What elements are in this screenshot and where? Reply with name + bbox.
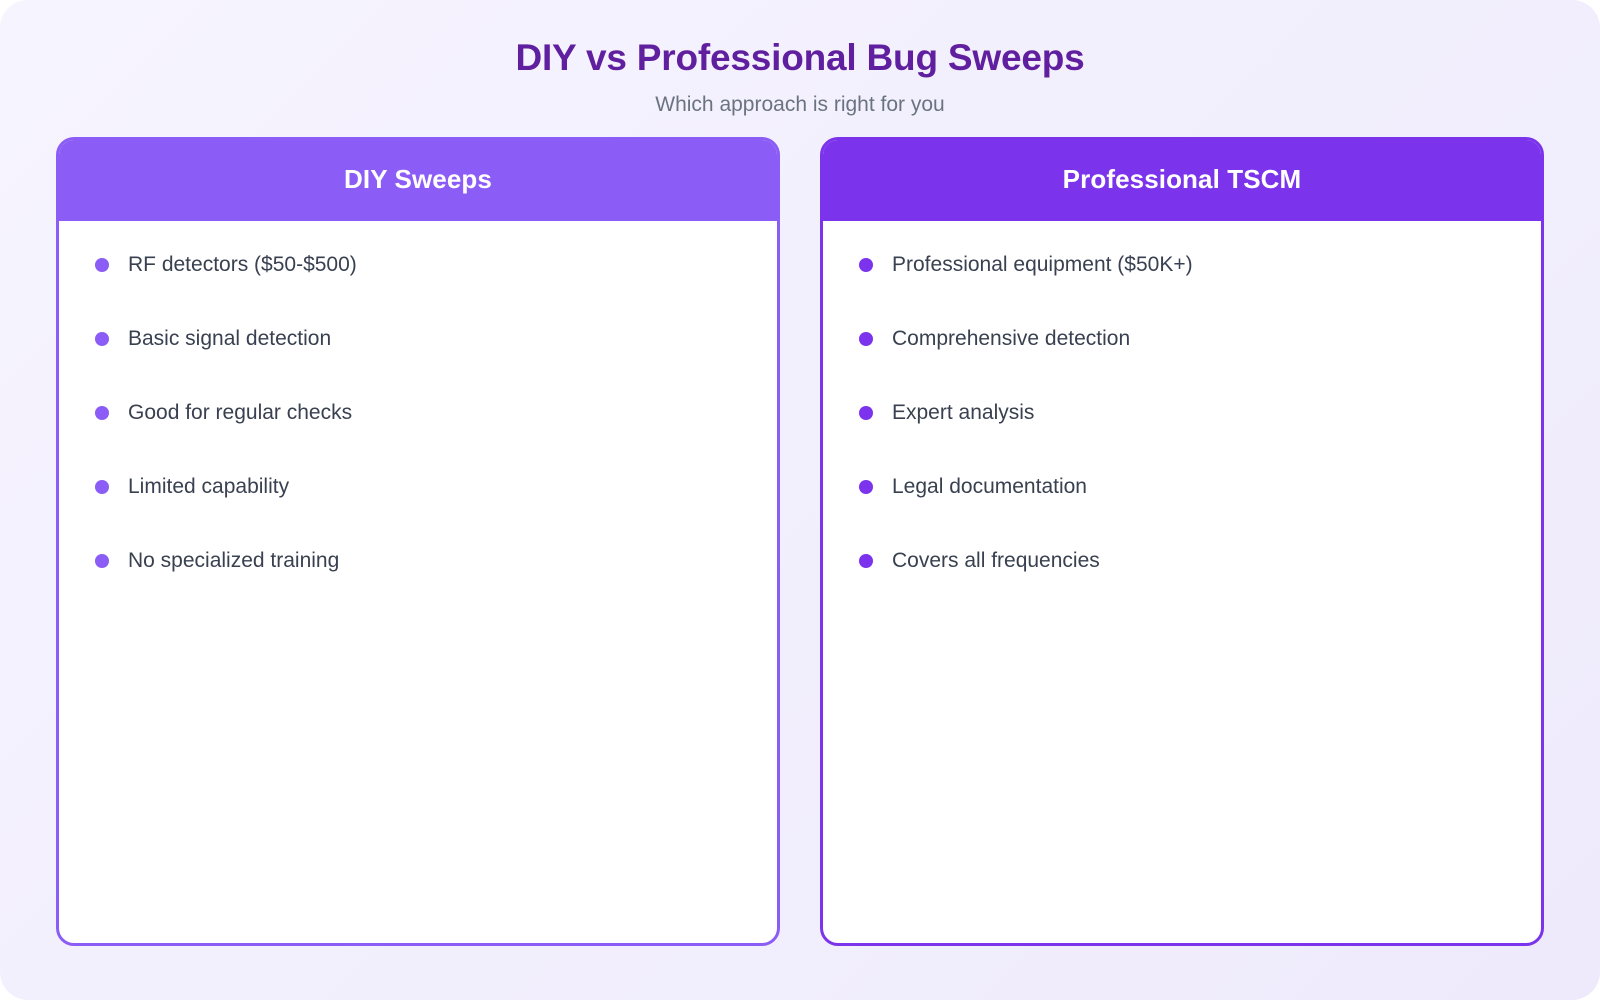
page-header: DIY vs Professional Bug Sweeps Which app…	[0, 0, 1600, 117]
list-item-label: RF detectors ($50-$500)	[128, 252, 357, 278]
bullet-dot-icon	[95, 258, 109, 272]
card-header-diy: DIY Sweeps	[58, 139, 778, 221]
card-header-title-professional: Professional TSCM	[1063, 164, 1302, 195]
list-item-label: Covers all frequencies	[892, 548, 1100, 574]
list-item: RF detectors ($50-$500)	[95, 251, 743, 279]
list-item: Professional equipment ($50K+)	[859, 251, 1507, 279]
bullet-dot-icon	[95, 332, 109, 346]
list-item: Good for regular checks	[95, 399, 743, 427]
list-item-label: Basic signal detection	[128, 326, 331, 352]
comparison-card-diy: DIY Sweeps RF detectors ($50-$500) Basic…	[56, 137, 780, 946]
list-item: Comprehensive detection	[859, 325, 1507, 353]
list-item-label: Comprehensive detection	[892, 326, 1130, 352]
comparison-columns: DIY Sweeps RF detectors ($50-$500) Basic…	[0, 117, 1600, 1000]
list-item: Limited capability	[95, 473, 743, 501]
list-item: Expert analysis	[859, 399, 1507, 427]
list-item-label: Good for regular checks	[128, 400, 352, 426]
feature-list-diy: RF detectors ($50-$500) Basic signal det…	[95, 251, 743, 575]
comparison-card-professional: Professional TSCM Professional equipment…	[820, 137, 1544, 946]
page-title: DIY vs Professional Bug Sweeps	[0, 36, 1600, 80]
card-header-title-diy: DIY Sweeps	[344, 164, 492, 195]
page-subtitle: Which approach is right for you	[0, 92, 1600, 117]
bullet-dot-icon	[95, 406, 109, 420]
bullet-dot-icon	[95, 480, 109, 494]
bullet-dot-icon	[859, 332, 873, 346]
comparison-infographic: DIY vs Professional Bug Sweeps Which app…	[0, 0, 1600, 1000]
list-item-label: Limited capability	[128, 474, 289, 500]
list-item: Covers all frequencies	[859, 547, 1507, 575]
feature-list-professional: Professional equipment ($50K+) Comprehen…	[859, 251, 1507, 575]
card-body-diy: RF detectors ($50-$500) Basic signal det…	[59, 221, 777, 943]
bullet-dot-icon	[95, 554, 109, 568]
card-header-professional: Professional TSCM	[822, 139, 1542, 221]
list-item: Legal documentation	[859, 473, 1507, 501]
bullet-dot-icon	[859, 480, 873, 494]
list-item-label: Expert analysis	[892, 400, 1034, 426]
list-item-label: Legal documentation	[892, 474, 1087, 500]
list-item: Basic signal detection	[95, 325, 743, 353]
bullet-dot-icon	[859, 406, 873, 420]
bullet-dot-icon	[859, 258, 873, 272]
bullet-dot-icon	[859, 554, 873, 568]
list-item-label: No specialized training	[128, 548, 339, 574]
list-item: No specialized training	[95, 547, 743, 575]
list-item-label: Professional equipment ($50K+)	[892, 252, 1193, 278]
card-body-professional: Professional equipment ($50K+) Comprehen…	[823, 221, 1541, 943]
